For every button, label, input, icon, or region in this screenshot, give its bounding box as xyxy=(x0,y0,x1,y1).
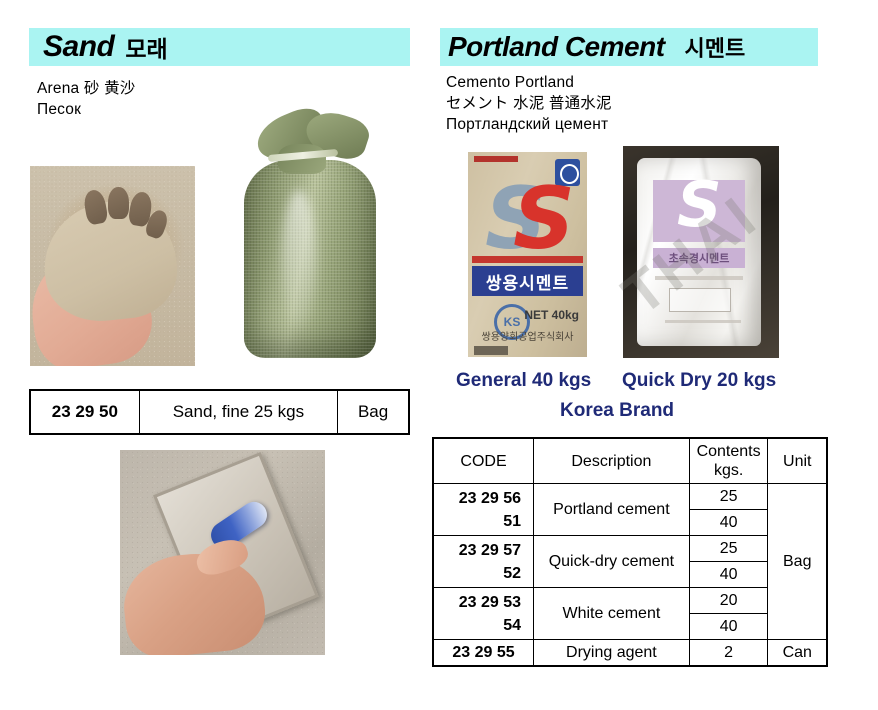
sand-subtitles: Arena 砂 黄沙 Песок xyxy=(37,78,135,120)
caption-general-bag: General 40 kgs xyxy=(456,370,591,392)
table-header-row: CODE Description Contents kgs. Unit xyxy=(433,438,827,484)
sand-title-band: Sand 모래 xyxy=(29,28,410,66)
sand-title-english: Sand xyxy=(43,30,114,64)
sand-title-korean: 모래 xyxy=(125,30,167,64)
bag-printed-line xyxy=(665,320,741,323)
bag-korean-brand-text: 쌍용시멘트 xyxy=(486,269,569,294)
header-contents: Contents kgs. xyxy=(689,438,768,484)
row-unit-can: Can xyxy=(768,640,827,667)
sandbag-body xyxy=(244,160,376,358)
white-cement-bag: S 초속경시멘트 xyxy=(637,158,761,346)
table-row: 23 29 50 Sand, fine 25 kgs Bag xyxy=(30,390,409,434)
row-contents-quickdry-1: 25 xyxy=(689,536,768,562)
hand-plastering-wall-photo xyxy=(120,450,325,655)
bag-korean-product-text: 초속경시멘트 xyxy=(669,250,730,266)
header-code: CODE xyxy=(433,438,534,484)
row-contents-drying-agent: 2 xyxy=(689,640,768,667)
table-row: 23 29 53 54 White cement 20 xyxy=(433,588,827,614)
cement-title-band: Portland Cement 시멘트 xyxy=(440,28,818,66)
finger-shape xyxy=(108,187,129,219)
bag-net-weight-text: NET 40kg xyxy=(524,308,579,322)
sand-unit-cell: Bag xyxy=(338,390,409,434)
catalog-page: Sand 모래 Arena 砂 黄沙 Песок 23 29 50 Sand, … xyxy=(0,0,878,710)
table-row: 23 29 55 Drying agent 2 Can xyxy=(433,640,827,667)
row-contents-portland-2: 40 xyxy=(689,510,768,536)
header-unit: Unit xyxy=(768,438,827,484)
row-unit-bag: Bag xyxy=(768,484,827,640)
header-contents-line1: Contents xyxy=(690,442,768,461)
cement-product-table: CODE Description Contents kgs. Unit 23 2… xyxy=(432,437,828,667)
logo-letter-s-red: S xyxy=(513,176,575,262)
green-woven-sandbag-photo xyxy=(222,108,398,370)
sand-product-table: 23 29 50 Sand, fine 25 kgs Bag xyxy=(29,389,410,435)
code-line-1: 23 29 57 xyxy=(434,539,521,562)
cement-title-english: Portland Cement xyxy=(448,31,665,63)
header-description: Description xyxy=(534,438,690,484)
sand-in-hand-photo xyxy=(30,166,195,366)
row-code-quickdry: 23 29 57 52 xyxy=(433,536,534,588)
header-contents-line2: kgs. xyxy=(690,461,768,480)
caption-korea-brand: Korea Brand xyxy=(560,400,674,422)
bag-blue-band: 쌍용시멘트 xyxy=(472,266,583,296)
code-line-1: 23 29 53 xyxy=(434,591,521,614)
cement-subtitle-line-3: Портландский цемент xyxy=(446,114,612,135)
bag-top-red-strip xyxy=(474,156,518,162)
code-line-1: 23 29 56 xyxy=(434,487,521,510)
bag-manufacturer-text: 쌍용양회공업주식회사 xyxy=(468,328,587,343)
bag-purple-logo-panel: S xyxy=(653,180,745,242)
bag-red-line xyxy=(472,256,583,263)
logo-letter-s-white: S xyxy=(677,174,722,236)
code-line-2: 51 xyxy=(434,510,521,533)
cement-subtitle-line-1: Cemento Portland xyxy=(446,72,612,93)
row-code-white: 23 29 53 54 xyxy=(433,588,534,640)
bag-printed-line xyxy=(655,276,743,280)
row-description-quickdry: Quick-dry cement xyxy=(534,536,690,588)
sandbag-highlight xyxy=(282,190,316,330)
cement-title-korean: 시멘트 xyxy=(685,31,746,63)
row-description-portland: Portland cement xyxy=(534,484,690,536)
bag-bottom-marking xyxy=(474,346,508,355)
ssangyong-cement-bag-photo: S S 쌍용시멘트 KS NET 40kg 쌍용양회공업주식회사 xyxy=(468,152,587,357)
caption-quick-dry-bag: Quick Dry 20 kgs xyxy=(622,370,776,392)
code-line-2: 54 xyxy=(434,614,521,637)
row-contents-quickdry-2: 40 xyxy=(689,562,768,588)
quick-dry-cement-bag-photo: S 초속경시멘트 xyxy=(623,146,779,358)
code-line-2: 52 xyxy=(434,562,521,585)
row-description-white: White cement xyxy=(534,588,690,640)
sand-description-cell: Sand, fine 25 kgs xyxy=(139,390,337,434)
table-row: 23 29 57 52 Quick-dry cement 25 xyxy=(433,536,827,562)
row-description-drying-agent: Drying agent xyxy=(534,640,690,667)
cement-subtitle-line-2: セメント 水泥 普通水泥 xyxy=(446,93,612,114)
row-contents-white-1: 20 xyxy=(689,588,768,614)
row-code-drying-agent: 23 29 55 xyxy=(433,640,534,667)
sand-code-cell: 23 29 50 xyxy=(30,390,139,434)
sand-subtitle-line-1: Arena 砂 黄沙 xyxy=(37,78,135,99)
table-row: 23 29 56 51 Portland cement 25 Bag xyxy=(433,484,827,510)
row-contents-white-2: 40 xyxy=(689,614,768,640)
row-code-portland: 23 29 56 51 xyxy=(433,484,534,536)
cement-subtitles: Cemento Portland セメント 水泥 普通水泥 Портландск… xyxy=(446,72,612,135)
sand-subtitle-line-2: Песок xyxy=(37,99,135,120)
bag-label-box xyxy=(669,288,731,312)
bag-purple-text-band: 초속경시멘트 xyxy=(653,248,745,268)
row-contents-portland-1: 25 xyxy=(689,484,768,510)
